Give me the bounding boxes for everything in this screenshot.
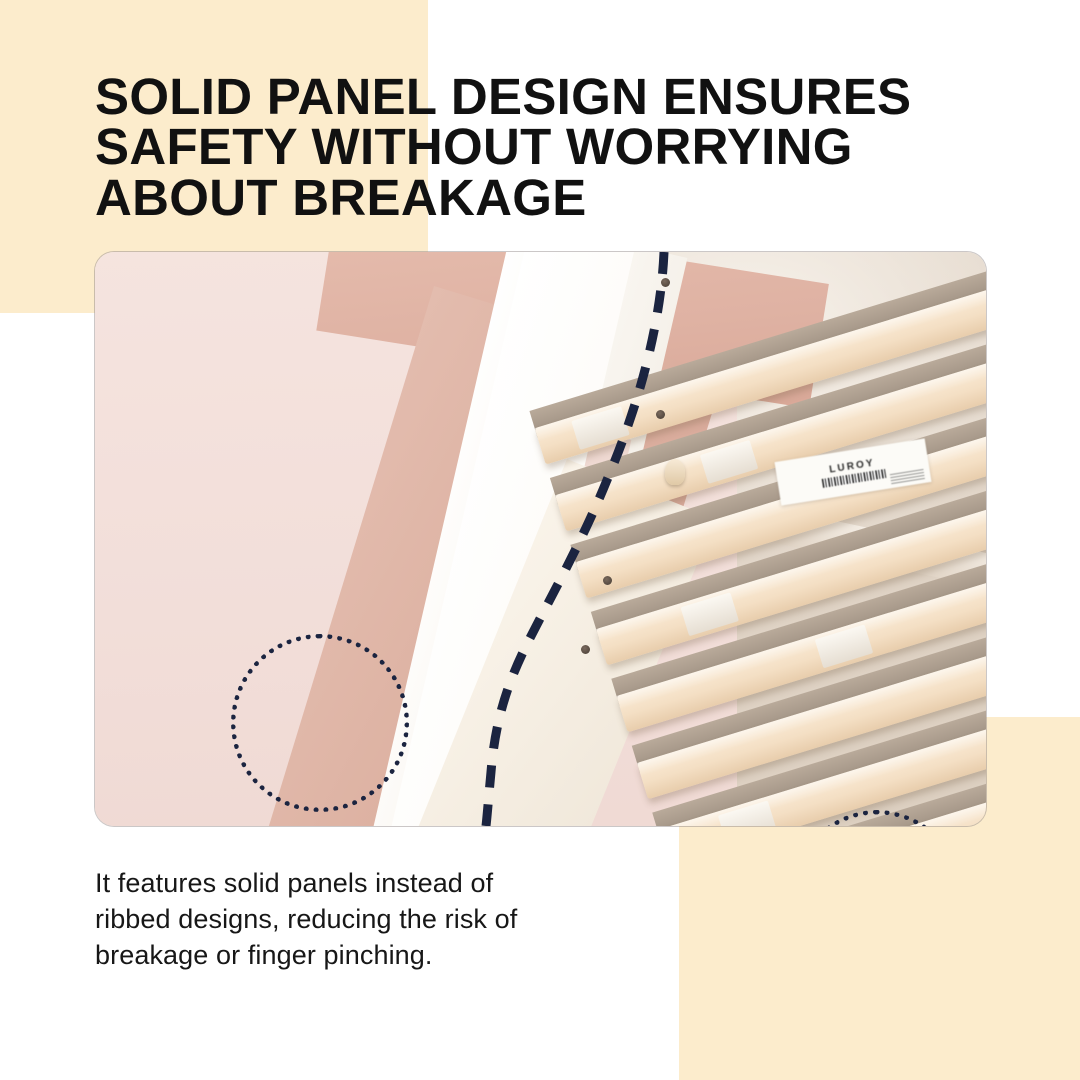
body-description: It features solid panels instead of ribb… [95, 866, 615, 974]
solid-panel-highlight-circle [231, 634, 409, 812]
screw-hole [661, 278, 670, 287]
screw-hole [581, 645, 590, 654]
label-fine-print [889, 467, 924, 484]
page-title: SOLID PANEL DESIGN ENSURES SAFETY WITHOU… [95, 72, 975, 223]
bed-frame-photo: LUROY [95, 252, 986, 826]
wooden-dowel-peg [665, 459, 685, 485]
product-photo-card: LUROY [95, 252, 986, 826]
